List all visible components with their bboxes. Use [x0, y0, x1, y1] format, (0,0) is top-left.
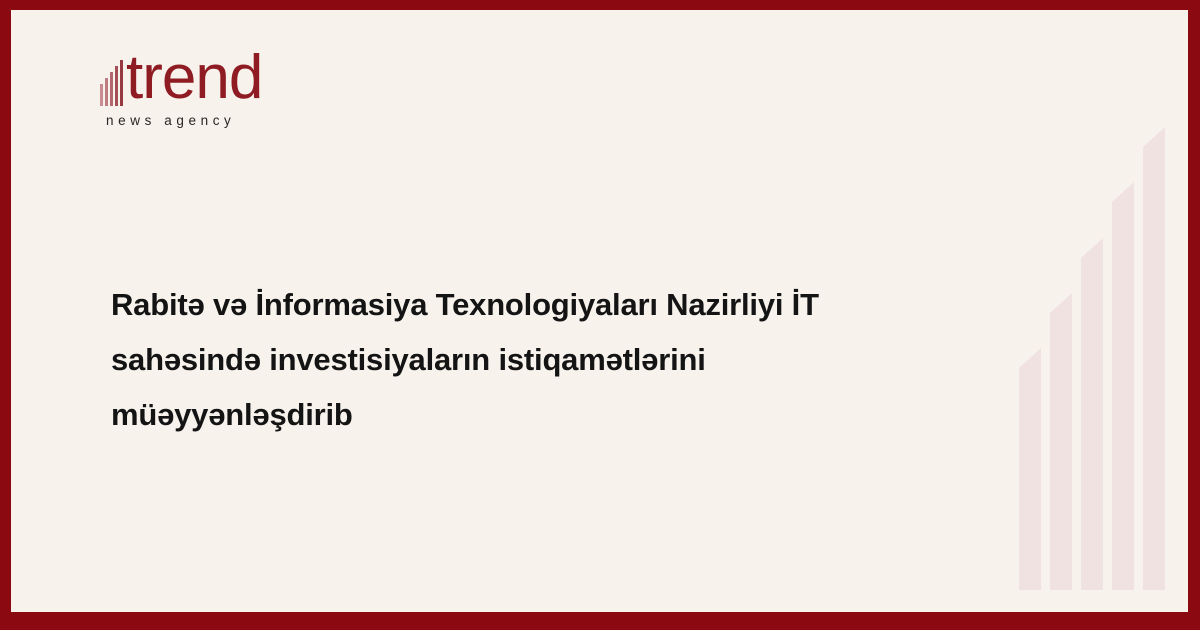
deco-bar-bevel — [1112, 182, 1134, 202]
deco-bar-bevel — [1050, 293, 1072, 313]
deco-bar-3 — [1081, 238, 1103, 590]
ascending-bar-chart-graphic — [1008, 10, 1188, 612]
headline-line-3: müəyyənləşdirib — [111, 387, 1011, 442]
social-share-card: trend news agency Rabitə və İnformasiya … — [0, 0, 1200, 630]
article-headline: Rabitə və İnformasiya Texnologiyaları Na… — [111, 277, 1011, 442]
logo-mark: trend — [100, 46, 400, 108]
logo-tagline: news agency — [106, 113, 400, 128]
headline-line-2: sahəsində investisiyaların istiqamətləri… — [111, 332, 1011, 387]
card-canvas: trend news agency Rabitə və İnformasiya … — [11, 10, 1188, 612]
deco-bar-1 — [1019, 348, 1041, 590]
logo-wordmark: trend — [126, 49, 262, 108]
deco-bar-4 — [1112, 182, 1134, 590]
headline-line-1: Rabitə və İnformasiya Texnologiyaları Na… — [111, 277, 1011, 332]
deco-bar-bevel — [1143, 127, 1165, 147]
ascending-bars-icon — [100, 60, 125, 106]
trend-logo[interactable]: trend news agency — [100, 46, 400, 128]
deco-bar-5 — [1143, 127, 1165, 590]
deco-bar-bevel — [1081, 238, 1103, 258]
deco-bar-bevel — [1019, 348, 1041, 368]
deco-bar-2 — [1050, 293, 1072, 590]
